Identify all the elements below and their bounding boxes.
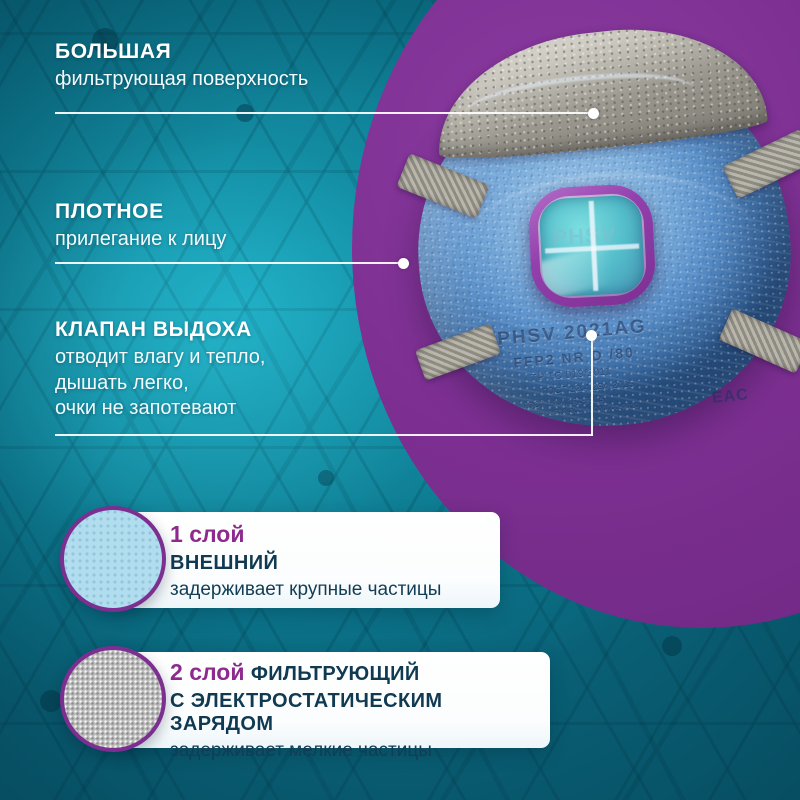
layer-card-1-text: 1 слой ВНЕШНИЙ задерживает крупные части…: [170, 522, 441, 601]
layer-1-line2: ВНЕШНИЙ: [170, 552, 441, 575]
layer-2-word: слой: [189, 659, 244, 685]
layer-1-word: слой: [189, 521, 244, 547]
callout-large-filtering-surface: БОЛЬШАЯ фильтрующая поверхность: [55, 40, 455, 93]
layer-card-2-text: 2 слой ФИЛЬТРУЮЩИЙ С ЭЛЕКТРОСТАТИЧЕСКИМ …: [170, 660, 550, 762]
callout-2-leader-dot: [398, 258, 409, 269]
callout-3-subtext-line-3: очки не запотевают: [55, 396, 455, 422]
callout-tight-fit: ПЛОТНОЕ прилегание к лицу: [55, 200, 435, 253]
callout-3-subtext-line-2: дышать легко,: [55, 371, 455, 397]
callout-exhalation-valve: КЛАПАН ВЫДОХА отводит влагу и тепло, дыш…: [55, 318, 455, 422]
callout-3-subtext-line-1: отводит влагу и тепло,: [55, 345, 455, 371]
callout-3-heading: КЛАПАН ВЫДОХА: [55, 318, 455, 342]
layer-card-2[interactable]: 2 слой ФИЛЬТРУЮЩИЙ С ЭЛЕКТРОСТАТИЧЕСКИМ …: [112, 652, 550, 748]
callout-1-leader-dot: [588, 108, 599, 119]
callout-3-leader-dot: [586, 330, 597, 341]
callout-2-subtext: прилегание к лицу: [55, 227, 435, 253]
layer-2-line3: задерживает мелкие частицы: [170, 740, 550, 762]
eac-certification-mark: EAC: [711, 386, 749, 408]
exhalation-valve: PHSV: [527, 183, 657, 309]
infographic-canvas: PHSV PHSV 2021AG FFP2 NR D /80 TP TC 019…: [0, 0, 800, 800]
layer-2-number: 2: [170, 659, 183, 685]
layer-2-swatch-circle: [60, 646, 166, 752]
callout-1-heading: БОЛЬШАЯ: [55, 40, 455, 64]
callout-1-leader-line: [55, 112, 593, 114]
callout-3-leader-riser: [591, 336, 593, 436]
valve-membrane: PHSV: [539, 194, 646, 297]
callout-1-subtext: фильтрующая поверхность: [55, 67, 455, 93]
callout-2-heading: ПЛОТНОЕ: [55, 200, 435, 224]
layer-2-title-row: 2 слой ФИЛЬТРУЮЩИЙ: [170, 660, 550, 685]
respirator-mask-image: PHSV PHSV 2021AG FFP2 NR D /80 TP TC 019…: [396, 18, 800, 458]
layer-1-number: 1: [170, 521, 183, 547]
layer-card-1[interactable]: 1 слой ВНЕШНИЙ задерживает крупные части…: [112, 512, 500, 608]
layer-1-title-row: 1 слой: [170, 522, 441, 547]
callout-3-leader-line: [55, 434, 593, 436]
layer-1-swatch-circle: [60, 506, 166, 612]
layer-2-extra: ФИЛЬТРУЮЩИЙ: [251, 663, 420, 685]
layer-2-line2: С ЭЛЕКТРОСТАТИЧЕСКИМ ЗАРЯДОМ: [170, 690, 550, 736]
callout-2-leader-line: [55, 262, 403, 264]
layer-1-line3: задерживает крупные частицы: [170, 579, 441, 601]
